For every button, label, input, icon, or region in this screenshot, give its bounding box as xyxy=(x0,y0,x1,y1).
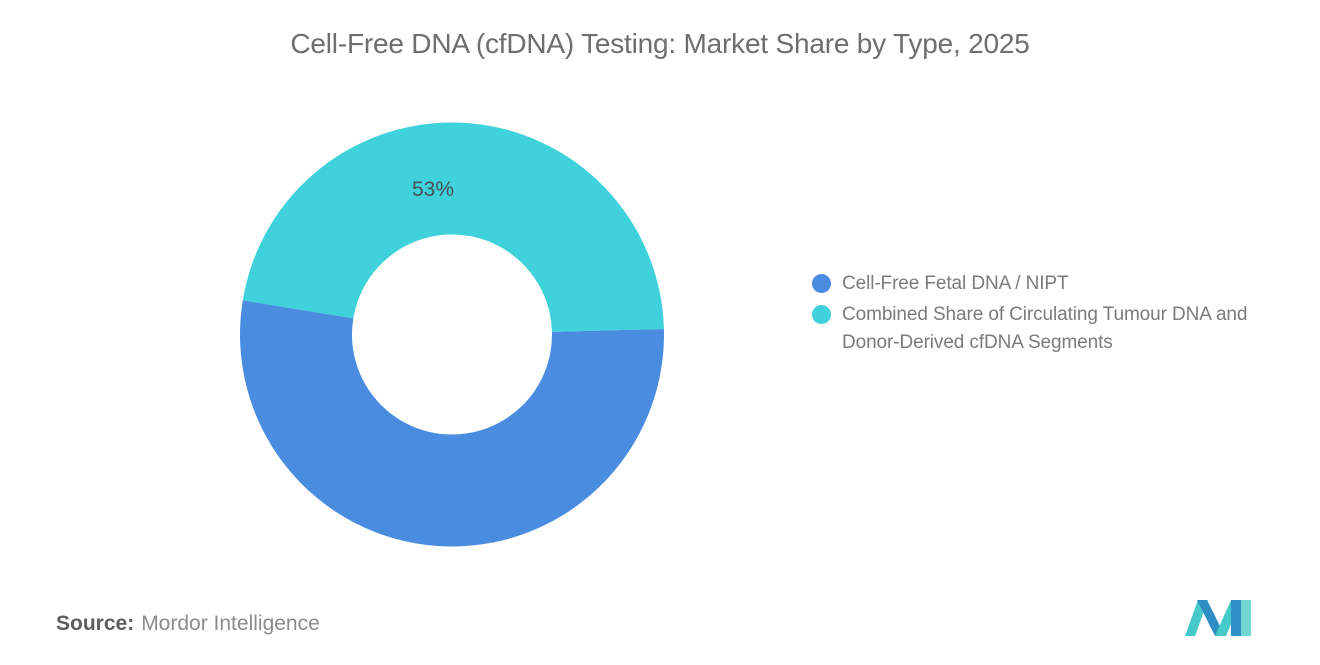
source-label: Source: xyxy=(56,612,134,635)
legend-item-1[interactable]: Combined Share of Circulating Tumour DNA… xyxy=(812,301,1302,357)
legend-color-swatch-icon-0 xyxy=(812,274,831,293)
legend-item-label-0: Cell-Free Fetal DNA / NIPT xyxy=(842,270,1069,298)
source-attribution: Source:Mordor Intelligence xyxy=(56,612,320,636)
legend-item-0[interactable]: Cell-Free Fetal DNA / NIPT xyxy=(812,270,1302,298)
source-value: Mordor Intelligence xyxy=(141,612,320,635)
legend-item-label-1: Combined Share of Circulating Tumour DNA… xyxy=(842,301,1302,357)
slice-data-label-0: 53% xyxy=(412,178,454,202)
mordor-intelligence-logo-icon xyxy=(1185,600,1251,636)
donut-slice-0[interactable] xyxy=(240,300,664,546)
legend-color-swatch-icon-1 xyxy=(812,305,831,324)
logo-svg xyxy=(1185,600,1251,636)
page-title: Cell-Free DNA (cfDNA) Testing: Market Sh… xyxy=(0,28,1320,60)
chart-legend: Cell-Free Fetal DNA / NIPT Combined Shar… xyxy=(812,270,1302,360)
donut-slice-1[interactable] xyxy=(243,122,664,331)
donut-chart: 53% xyxy=(240,122,664,547)
